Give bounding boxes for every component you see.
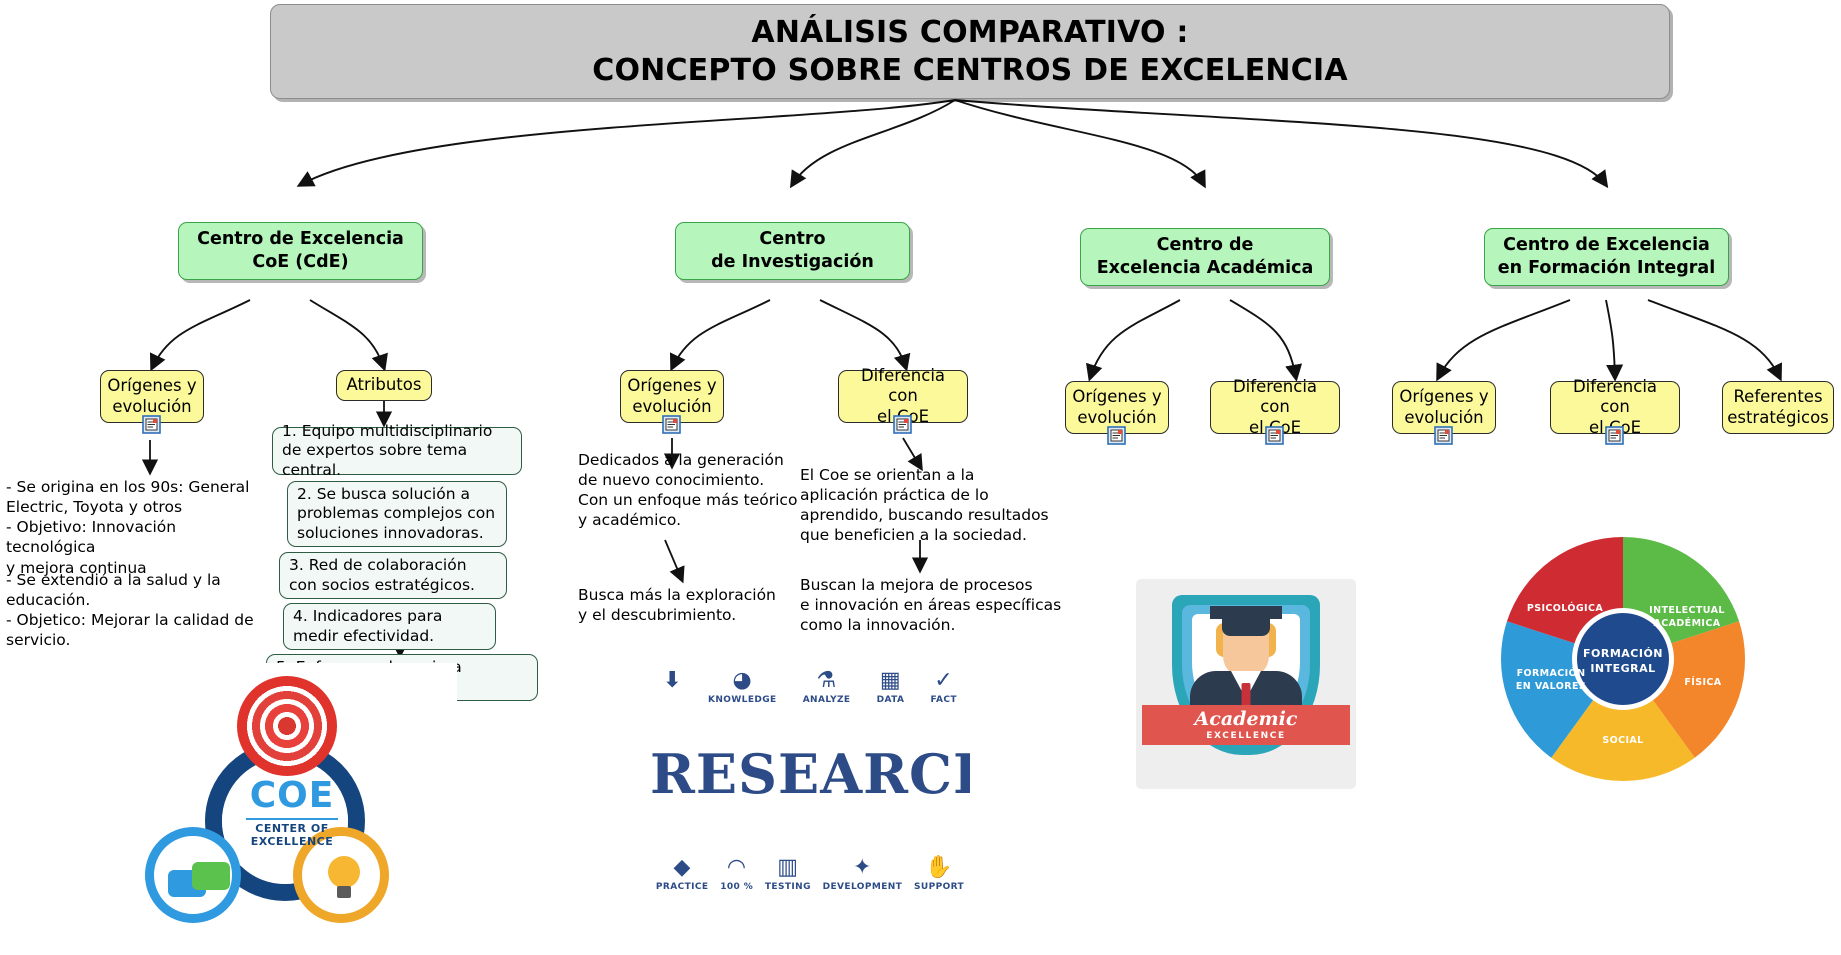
- research-bottom-item-1: ◠ 100 %: [720, 857, 753, 892]
- research-bottom-item-0: ◆ PRACTICE: [656, 857, 709, 892]
- check-circle-icon: ✓: [930, 670, 956, 692]
- note-icon: [142, 415, 161, 434]
- subnode-aca-origenes-line2: evolución: [1077, 408, 1156, 427]
- page-title-line1: ANÁLISIS COMPARATIVO :: [751, 15, 1188, 50]
- page-title: ANÁLISIS COMPARATIVO : CONCEPTO SOBRE CE…: [270, 4, 1670, 99]
- gear-icon: ✦: [823, 857, 903, 879]
- subnode-formacion-referentes[interactable]: Referentes estratégicos: [1722, 381, 1834, 434]
- research-top-item-3: ▦ DATA: [877, 670, 905, 705]
- lightbulb-base: [337, 886, 351, 898]
- research-top-icons: ⬇ ◕ KNOWLEDGE ⚗ ANALYZE ▦ DATA ✓ FACT: [650, 670, 970, 705]
- text-investigacion-diferencia-detail-2: Buscan la mejora de procesos e innovació…: [800, 575, 1062, 635]
- research-top-item-2: ⚗ ANALYZE: [803, 670, 851, 705]
- formacion-integral-donut-chart: FORMACIÓN INTEGRAL INTELECTUAL ACADÉMICA…: [1494, 533, 1752, 785]
- subnode-for-origenes-line2: evolución: [1404, 408, 1483, 427]
- badge-ribbon-line2: EXCELLENCE: [1206, 731, 1285, 741]
- pie-label-psicologica: PSICOLÓGICA: [1527, 602, 1603, 614]
- target-icon: [237, 676, 337, 776]
- category-academica-line1: Centro de: [1157, 235, 1254, 255]
- research-bottom-label-0: PRACTICE: [656, 882, 709, 892]
- calculator-icon: ▦: [877, 670, 905, 692]
- category-coe-line1: Centro de Excelencia: [197, 229, 404, 249]
- research-top-item-0: ⬇: [663, 670, 682, 705]
- note-icon: [893, 415, 912, 434]
- graduation-cap-icon: [1210, 606, 1282, 619]
- research-top-item-1: ◕ KNOWLEDGE: [708, 670, 777, 705]
- note-icon: [662, 415, 681, 434]
- pie-label-valores-line2: EN VALORES: [1516, 681, 1586, 692]
- category-formacion-line1: Centro de Excelencia: [1503, 235, 1710, 255]
- research-bottom-label-1: 100 %: [720, 882, 753, 892]
- badge-ribbon-line1: Academic: [1195, 710, 1298, 729]
- research-word: RESEARCH: [650, 742, 970, 806]
- research-infographic-image: ⬇ ◕ KNOWLEDGE ⚗ ANALYZE ▦ DATA ✓ FACT RE…: [650, 666, 970, 898]
- coe-logo-divider: [246, 818, 338, 820]
- category-investigacion-line1: Centro: [759, 229, 825, 249]
- lightbulb-glass: [328, 856, 360, 888]
- text-investigacion-origenes-detail-2: Busca más la exploración y el descubrimi…: [578, 585, 828, 625]
- subnode-for-referentes-line1: Referentes: [1733, 387, 1822, 406]
- subnode-for-origenes-line1: Orígenes y: [1399, 387, 1488, 406]
- coe-logo-subtitle-2: EXCELLENCE: [127, 836, 457, 849]
- subnode-inv-origenes-line1: Orígenes y: [627, 376, 716, 395]
- category-box-academica[interactable]: Centro de Excelencia Académica: [1080, 228, 1330, 286]
- attribute-box-1[interactable]: 1. Equipo multidisciplinario de expertos…: [272, 427, 522, 475]
- note-icon: [1605, 426, 1624, 445]
- research-top-item-4: ✓ FACT: [930, 670, 956, 705]
- pie-label-fisica: FÍSICA: [1684, 676, 1721, 688]
- pie-label-valores-line1: FORMACIÓN: [1517, 667, 1586, 679]
- subnode-coe-atributos-label: Atributos: [347, 375, 422, 395]
- category-box-formacion[interactable]: Centro de Excelencia en Formación Integr…: [1484, 228, 1729, 286]
- subnode-aca-diferencia-line1: Diferencia con: [1233, 377, 1317, 416]
- category-formacion-line2: en Formación Integral: [1498, 258, 1715, 278]
- speech-bubble-green: [192, 862, 230, 890]
- research-bottom-label-3: DEVELOPMENT: [823, 882, 903, 892]
- text-coe-origenes-detail-2: - Se extendió a la salud y la educación.…: [6, 570, 268, 651]
- coe-logo-image: COE CENTER OF EXCELLENCE: [127, 663, 457, 955]
- category-academica-line2: Excelencia Académica: [1097, 258, 1314, 278]
- gauge-icon: ◠: [720, 857, 753, 879]
- pie-label-social: SOCIAL: [1602, 735, 1643, 746]
- badge-ribbon: Academic EXCELLENCE: [1142, 705, 1350, 745]
- category-box-coe[interactable]: Centro de Excelencia CoE (CdE): [178, 222, 423, 280]
- research-top-label-1: KNOWLEDGE: [708, 695, 777, 705]
- page-title-line2: CONCEPTO SOBRE CENTROS DE EXCELENCIA: [592, 53, 1348, 88]
- coe-logo-acronym: COE: [127, 778, 457, 814]
- research-top-label-2: ANALYZE: [803, 695, 851, 705]
- subnode-for-referentes-line2: estratégicos: [1727, 408, 1829, 427]
- text-investigacion-origenes-detail-1: Dedicados a la generación de nuevo conoc…: [578, 450, 828, 531]
- magnifier-flask-icon: ⚗: [803, 670, 851, 692]
- note-icon: [1107, 426, 1126, 445]
- text-coe-origenes-detail-1: - Se origina en los 90s: General Electri…: [6, 477, 268, 578]
- research-bottom-label-4: SUPPORT: [914, 882, 964, 892]
- donut-center-line1: FORMACIÓN: [1583, 647, 1663, 660]
- academic-excellence-badge-image: Academic EXCELLENCE: [1136, 579, 1356, 789]
- category-coe-line2: CoE (CdE): [252, 252, 348, 272]
- note-icon: [1434, 426, 1453, 445]
- text-investigacion-diferencia-detail-1: El Coe se orientan a la aplicación práct…: [800, 465, 1062, 546]
- research-top-label-3: DATA: [877, 695, 905, 705]
- note-icon: [1265, 426, 1284, 445]
- pie-label-intelectual-line2: ACADÉMICA: [1654, 617, 1721, 629]
- subnode-coe-atributos[interactable]: Atributos: [336, 370, 432, 401]
- subnode-inv-origenes-line2: evolución: [632, 397, 711, 416]
- research-bottom-label-2: TESTING: [765, 882, 811, 892]
- research-bottom-icons: ◆ PRACTICE ◠ 100 % ▥ TESTING ✦ DEVELOPME…: [650, 857, 970, 892]
- download-arrow-icon: ⬇: [663, 670, 682, 692]
- category-investigacion-line2: de Investigación: [711, 252, 874, 272]
- research-bottom-item-2: ▥ TESTING: [765, 857, 811, 892]
- attribute-box-3[interactable]: 3. Red de colaboración con socios estrat…: [279, 552, 507, 599]
- coe-logo-text: COE CENTER OF EXCELLENCE: [127, 778, 457, 848]
- research-top-label-4: FACT: [930, 695, 956, 705]
- subnode-for-diferencia-line1: Diferencia con: [1573, 377, 1657, 416]
- brain-icon: ◕: [708, 670, 777, 692]
- diagram-canvas: ANÁLISIS COMPARATIVO : CONCEPTO SOBRE CE…: [0, 0, 1841, 955]
- category-box-investigacion[interactable]: Centro de Investigación: [675, 222, 910, 280]
- hand-icon: ✋: [914, 857, 964, 879]
- attribute-box-4[interactable]: 4. Indicadores para medir efectividad.: [283, 603, 496, 650]
- research-bottom-item-3: ✦ DEVELOPMENT: [823, 857, 903, 892]
- attribute-box-2[interactable]: 2. Se busca solución a problemas complej…: [287, 481, 507, 547]
- subnode-aca-origenes-line1: Orígenes y: [1072, 387, 1161, 406]
- subnode-coe-origenes-line1: Orígenes y: [107, 376, 196, 395]
- exclamation-diamond-icon: ◆: [656, 857, 709, 879]
- research-bottom-item-4: ✋ SUPPORT: [914, 857, 964, 892]
- subnode-coe-origenes-line2: evolución: [112, 397, 191, 416]
- bar-chart-icon: ▥: [765, 857, 811, 879]
- subnode-inv-diferencia-line1: Diferencia con: [861, 366, 945, 405]
- pie-label-intelectual-line1: INTELECTUAL: [1649, 605, 1725, 616]
- coe-logo-subtitle-1: CENTER OF: [127, 823, 457, 836]
- donut-center-line2: INTEGRAL: [1590, 662, 1655, 675]
